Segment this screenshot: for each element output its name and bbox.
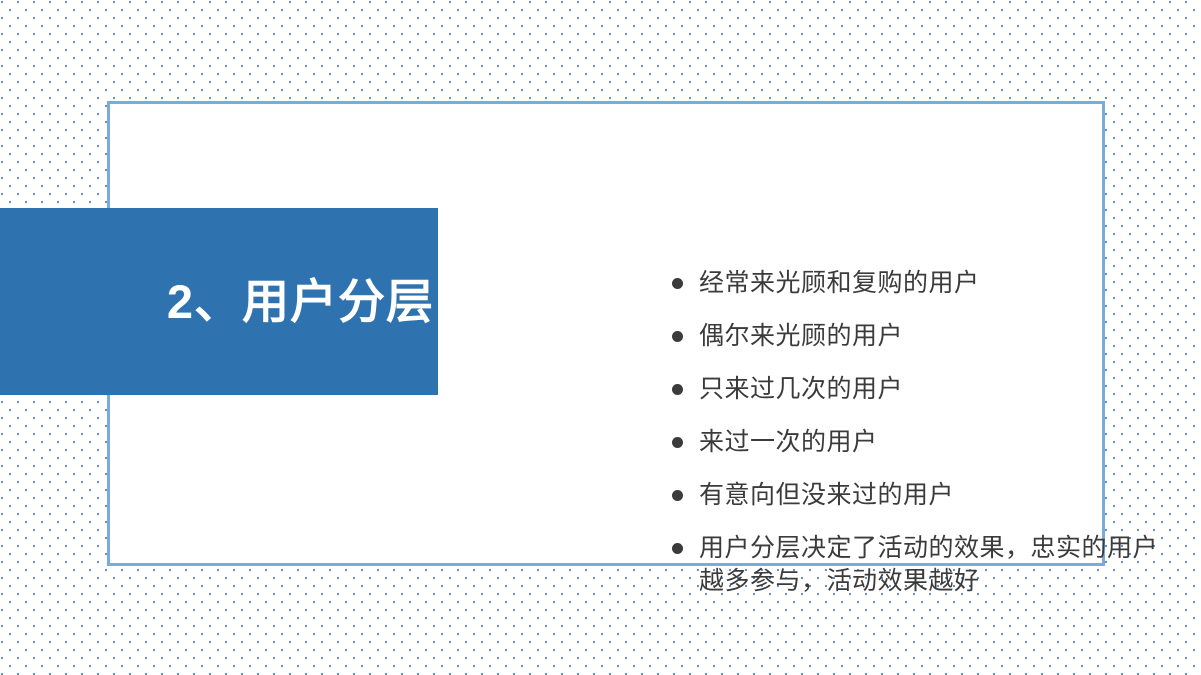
list-item-label: 来过一次的用户	[699, 426, 1172, 459]
bullet-list: 经常来光顾和复购的用户 偶尔来光顾的用户 只来过几次的用户 来过一次的用户 有意…	[672, 267, 1172, 598]
list-item-label: 有意向但没来过的用户	[699, 479, 1172, 512]
bullet-dot-icon	[672, 384, 683, 395]
bullet-dot-icon	[672, 278, 683, 289]
page-title: 2、用户分层	[167, 276, 434, 328]
slide-canvas: 经常来光顾和复购的用户 偶尔来光顾的用户 只来过几次的用户 来过一次的用户 有意…	[0, 0, 1201, 675]
list-item-label: 用户分层决定了活动的效果，忠实的用户越多参与，活动效果越好	[699, 532, 1172, 598]
list-item: 偶尔来光顾的用户	[672, 320, 1172, 353]
list-item: 经常来光顾和复购的用户	[672, 267, 1172, 300]
list-item-label: 偶尔来光顾的用户	[699, 320, 1172, 353]
bullet-dot-icon	[672, 437, 683, 448]
list-item: 来过一次的用户	[672, 426, 1172, 459]
bullet-dot-icon	[672, 331, 683, 342]
list-item-label: 只来过几次的用户	[699, 373, 1172, 406]
bullet-dot-icon	[672, 490, 683, 501]
list-item: 只来过几次的用户	[672, 373, 1172, 406]
list-item: 有意向但没来过的用户	[672, 479, 1172, 512]
section-title-banner: 2、用户分层	[0, 208, 438, 395]
bullet-dot-icon	[672, 543, 683, 554]
list-item-label: 经常来光顾和复购的用户	[699, 267, 1172, 300]
list-item: 用户分层决定了活动的效果，忠实的用户越多参与，活动效果越好	[672, 532, 1172, 598]
